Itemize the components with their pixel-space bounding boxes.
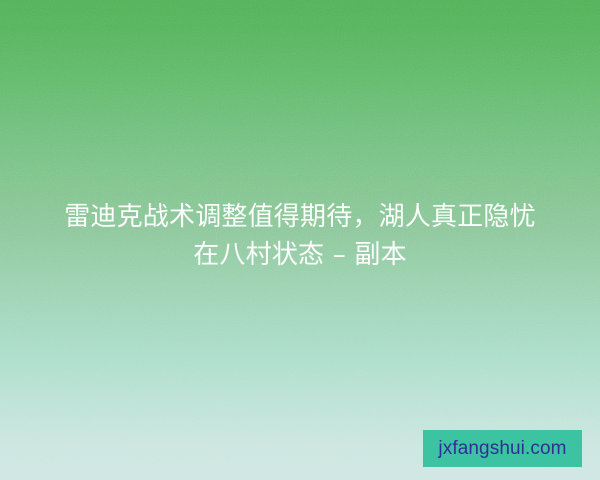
watermark-badge: jxfangshui.com: [423, 430, 582, 467]
watermark-label: jxfangshui.com: [438, 439, 566, 458]
page-title: 雷迪克战术调整值得期待，湖人真正隐忧 在八村状态 – 副本: [28, 198, 572, 274]
image-canvas: 雷迪克战术调整值得期待，湖人真正隐忧 在八村状态 – 副本 jxfangshui…: [0, 0, 600, 480]
title-block: 雷迪克战术调整值得期待，湖人真正隐忧 在八村状态 – 副本: [0, 198, 600, 274]
